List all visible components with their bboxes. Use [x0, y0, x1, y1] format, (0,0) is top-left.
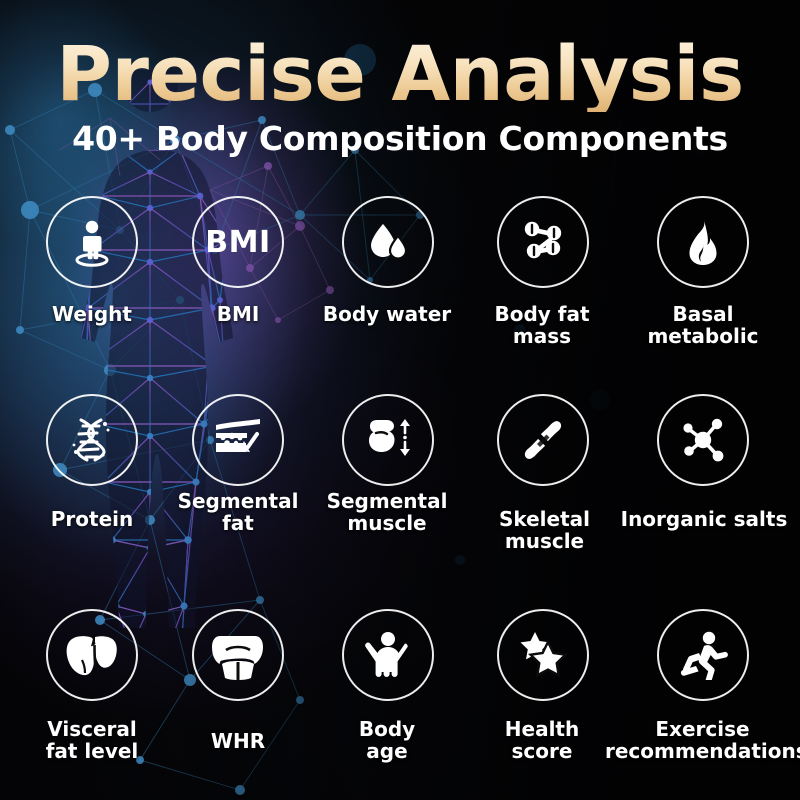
item-protein-circle[interactable] [46, 394, 138, 486]
item-segmental-muscle-label: Segmental muscle [307, 490, 467, 535]
item-visceral-fat-level-circle[interactable] [46, 609, 138, 701]
item-skeletal-muscle-circle[interactable] [497, 394, 589, 486]
item-weight-circle[interactable] [46, 196, 138, 288]
item-body-age-label: Body age [307, 718, 467, 763]
fat-layers-arrow-icon [211, 417, 265, 463]
item-body-water-label: Body water [307, 303, 467, 325]
item-exercise-recommendations-circle[interactable] [657, 609, 749, 701]
item-exercise-recommendations-label: Exercise recommendations [605, 718, 800, 763]
item-body-water-circle[interactable] [342, 196, 434, 288]
liver-icon [64, 631, 120, 679]
item-whr-circle[interactable] [192, 609, 284, 701]
water-drops-icon [363, 217, 413, 267]
item-body-fat-mass-circle[interactable] [497, 196, 589, 288]
item-visceral-fat-level-label: Visceral fat level [10, 718, 174, 763]
item-bmi-circle[interactable]: BMI [192, 196, 284, 288]
person-arms-up-icon [364, 630, 412, 680]
item-skeletal-muscle-label: Skeletal muscle [462, 508, 627, 553]
item-basal-metabolic-label: Basal metabolic [620, 303, 786, 348]
item-protein-label: Protein [12, 508, 172, 530]
hips-waist-icon [212, 630, 264, 680]
item-segmental-fat-circle[interactable] [192, 394, 284, 486]
flame-icon [680, 217, 726, 267]
item-body-fat-mass-label: Body fat mass [462, 303, 622, 348]
header: Precise Analysis 40+ Body Composition Co… [0, 36, 800, 155]
item-inorganic-salts-circle[interactable] [657, 394, 749, 486]
bicep-arrow-icon [362, 416, 414, 464]
item-health-score-circle[interactable] [497, 609, 589, 701]
page-title: Precise Analysis [0, 36, 800, 112]
running-person-icon [676, 630, 730, 680]
item-inorganic-salts-label: Inorganic salts [620, 508, 788, 530]
item-basal-metabolic-circle[interactable] [657, 196, 749, 288]
item-body-age-circle[interactable] [342, 609, 434, 701]
page-subtitle: 40+ Body Composition Components [0, 122, 800, 155]
two-stars-icon [517, 630, 569, 680]
item-weight-label: Weight [12, 303, 172, 325]
bone-joint-icon [518, 415, 568, 465]
item-segmental-fat-label: Segmental fat [158, 490, 318, 535]
item-whr-label: WHR [158, 730, 318, 752]
item-health-score-label: Health score [462, 718, 622, 763]
atom-cluster-icon [677, 414, 729, 466]
item-bmi-label: BMI [158, 303, 318, 325]
dna-helix-icon [67, 414, 117, 466]
bmi-text-icon: BMI [205, 225, 270, 260]
poster-canvas: Precise Analysis 40+ Body Composition Co… [0, 0, 800, 800]
molecule-chain-icon [517, 216, 569, 268]
person-on-scale-icon [66, 216, 118, 268]
item-segmental-muscle-circle[interactable] [342, 394, 434, 486]
